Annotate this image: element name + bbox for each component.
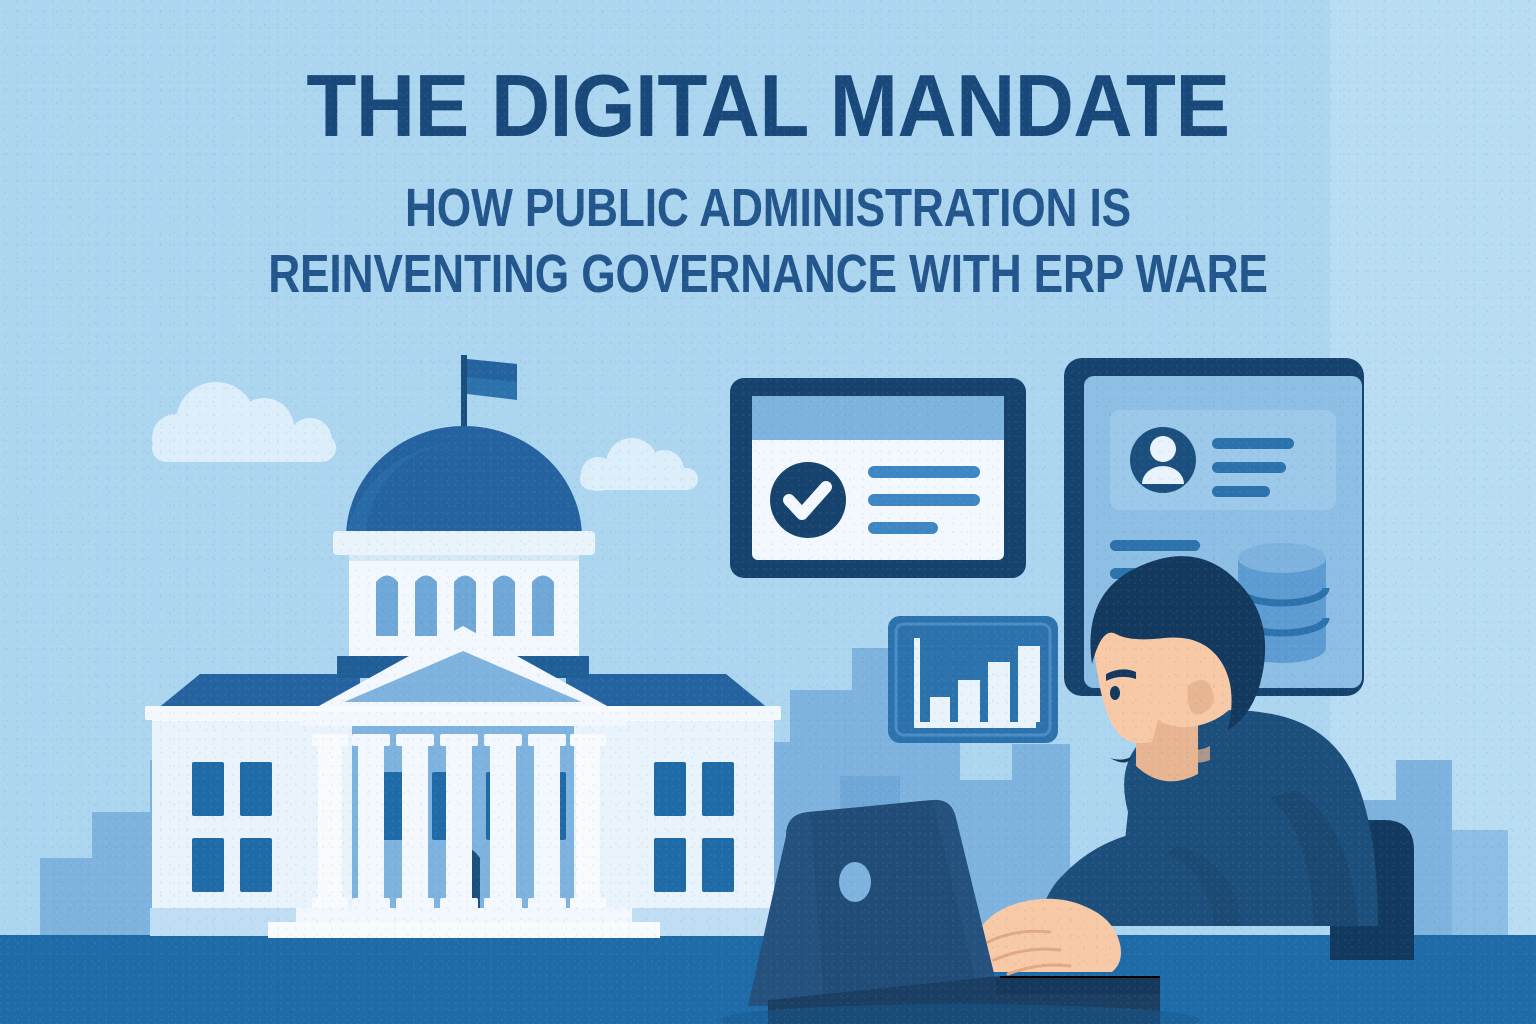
dome-cornice	[333, 531, 595, 555]
banner-canvas: THE DIGITAL MANDATE HOW PUBLIC ADMINISTR…	[0, 0, 1536, 1024]
verification-approval-card	[730, 378, 1026, 578]
building-steps-lower	[268, 922, 660, 938]
oval-logo-mark	[839, 862, 871, 902]
analytics-bar-chart-card	[888, 616, 1058, 743]
laptop-base-edge	[996, 978, 1160, 994]
person-eye	[1110, 686, 1120, 700]
building-steps-upper	[296, 908, 632, 924]
card-header-bar	[752, 396, 1004, 440]
illustration-artwork	[0, 0, 1536, 1024]
user-avatar-icon	[1130, 427, 1196, 493]
check-circle-icon	[770, 462, 846, 538]
